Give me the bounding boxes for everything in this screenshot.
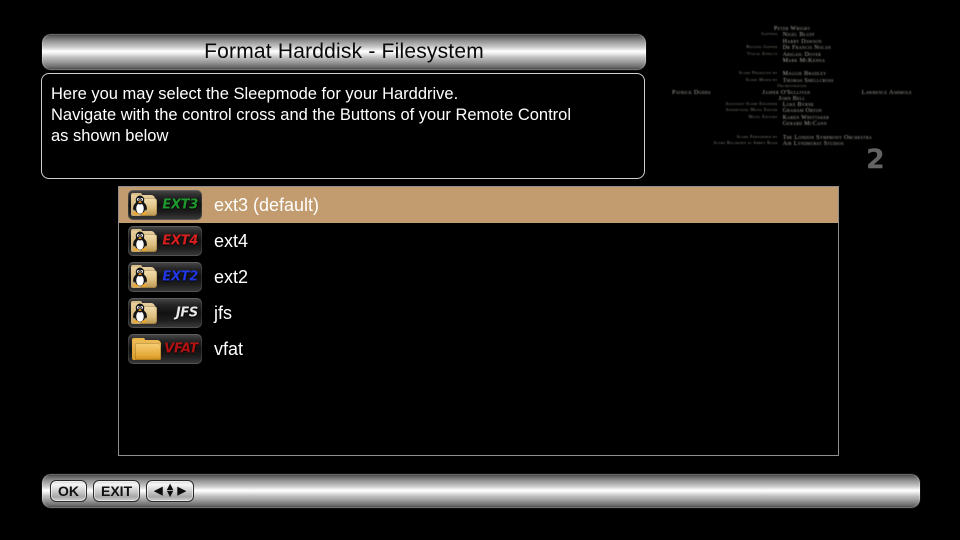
footer-button-group: OK EXIT ◀▲▼▶ <box>50 474 194 508</box>
list-item[interactable]: JFSjfs <box>119 295 838 331</box>
exit-button[interactable]: EXIT <box>93 480 140 502</box>
footer-bar: OK EXIT ◀▲▼▶ <box>41 473 921 509</box>
page-title: Format Harddisk - Filesystem <box>204 40 484 64</box>
filesystem-badge-label: VFAT <box>164 343 198 356</box>
list-item-label: ext4 <box>214 231 248 252</box>
tux-penguin-icon <box>133 195 147 215</box>
tux-penguin-icon <box>133 231 147 251</box>
navigation-cross-icon: ◀▲▼▶ <box>154 484 186 498</box>
tux-penguin-icon <box>133 267 147 287</box>
osd-overlay: Format Harddisk - Filesystem Here you ma… <box>0 0 960 540</box>
list-item[interactable]: VFATvfat <box>119 331 838 367</box>
tux-penguin-icon <box>133 303 147 323</box>
filesystem-badge-label: EXT2 <box>162 271 198 284</box>
window-title-bar: Format Harddisk - Filesystem <box>41 33 647 71</box>
jfs-folder-icon: JFS <box>128 298 202 328</box>
list-item-label: vfat <box>214 339 243 360</box>
description-text: Here you may select the Sleepmode for yo… <box>51 84 635 147</box>
ext4-folder-icon: EXT4 <box>128 226 202 256</box>
list-item-label: ext3 (default) <box>214 195 319 216</box>
list-item[interactable]: EXT3ext3 (default) <box>119 187 838 223</box>
list-item[interactable]: EXT4ext4 <box>119 223 838 259</box>
navigation-cross-button[interactable]: ◀▲▼▶ <box>146 480 194 502</box>
ext2-folder-icon: EXT2 <box>128 262 202 292</box>
list-item-label: ext2 <box>214 267 248 288</box>
filesystem-badge-label: EXT4 <box>162 235 198 248</box>
folder-icon <box>132 338 162 361</box>
list-item-label: jfs <box>214 303 232 324</box>
list-item[interactable]: EXT2ext2 <box>119 259 838 295</box>
description-panel: Here you may select the Sleepmode for yo… <box>41 73 645 179</box>
ext3-folder-icon: EXT3 <box>128 190 202 220</box>
vfat-folder-icon: VFAT <box>128 334 202 364</box>
filesystem-badge-label: EXT3 <box>162 199 198 212</box>
ok-button[interactable]: OK <box>50 480 87 502</box>
filesystem-badge-label: JFS <box>176 307 198 320</box>
filesystem-list[interactable]: EXT3ext3 (default)EXT4ext4EXT2ext2JFSjfs… <box>118 186 839 456</box>
